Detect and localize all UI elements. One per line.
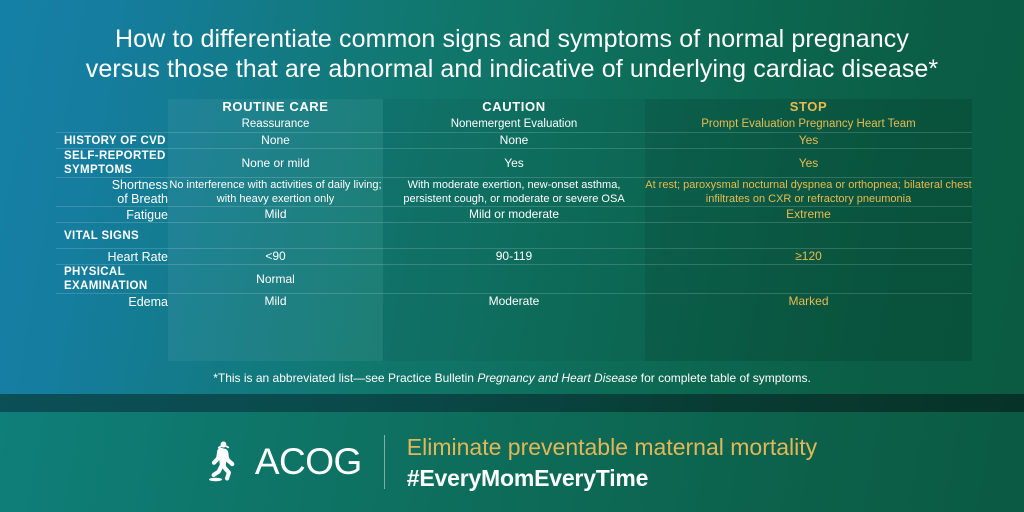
- table-row: Edema Mild Moderate Marked: [56, 294, 972, 310]
- cell-physical-examination-routine: Normal: [168, 265, 383, 294]
- cell-self-reported-symptoms-caution: Yes: [383, 149, 645, 178]
- row-label-line-2: of Breath: [117, 192, 168, 206]
- cell-history-of-cvd-routine: None: [168, 133, 383, 149]
- comparison-table-zone: ROUTINE CARE Reassurance CAUTION Nonemer…: [56, 99, 972, 361]
- row-label-history-of-cvd: HISTORY OF CVD: [56, 133, 168, 149]
- cell-vital-signs-routine: [168, 223, 383, 249]
- cell-shortness-of-breath-stop: At rest; paroxysmal nocturnal dyspnea or…: [645, 178, 972, 207]
- table-row: VITAL SIGNS: [56, 223, 972, 249]
- footnote-italic-title: Pregnancy and Heart Disease: [477, 371, 637, 385]
- row-label-heart-rate: Heart Rate: [56, 249, 168, 265]
- cell-edema-stop: Marked: [645, 294, 972, 310]
- footer-tagline: Eliminate preventable maternal mortality: [407, 433, 817, 461]
- cell-heart-rate-routine: <90: [168, 249, 383, 265]
- row-label-line-2: SYMPTOMS: [64, 164, 132, 176]
- column-header-caution-title: CAUTION: [383, 99, 645, 115]
- footer-divider-rule: [384, 435, 385, 489]
- cell-fatigue-routine: Mild: [168, 207, 383, 223]
- column-header-stop-subtitle: Prompt Evaluation Pregnancy Heart Team: [645, 117, 972, 132]
- cell-physical-examination-caution: [383, 265, 645, 294]
- footnote-prefix: *This is an abbreviated list—see Practic…: [213, 371, 477, 385]
- cell-heart-rate-caution: 90-119: [383, 249, 645, 265]
- acog-seal-icon: [207, 440, 243, 484]
- table-row: HISTORY OF CVD None None Yes: [56, 133, 972, 149]
- row-label-line-2: EXAMINATION: [64, 280, 148, 292]
- acog-wordmark: ACOG: [255, 442, 362, 482]
- row-label-edema: Edema: [56, 294, 168, 310]
- column-header-routine-care-subtitle: Reassurance: [168, 117, 383, 132]
- table-row: Heart Rate <90 90-119 ≥120: [56, 249, 972, 265]
- table-row: Shortness of Breath No interference with…: [56, 178, 972, 207]
- cell-self-reported-symptoms-stop: Yes: [645, 149, 972, 178]
- row-label-shortness-of-breath: Shortness of Breath: [56, 178, 168, 207]
- footer-tagline-block: Eliminate preventable maternal mortality…: [407, 433, 817, 492]
- footer-bar: ACOG Eliminate preventable maternal mort…: [0, 412, 1024, 512]
- page-title: How to differentiate common signs and sy…: [0, 24, 1024, 84]
- row-label-physical-examination: PHYSICAL EXAMINATION: [56, 265, 168, 294]
- cell-vital-signs-stop: [645, 223, 972, 249]
- cell-shortness-of-breath-routine: No interference with activities of daily…: [168, 178, 383, 207]
- column-header-routine-care-title: ROUTINE CARE: [168, 99, 383, 115]
- cell-edema-caution: Moderate: [383, 294, 645, 310]
- infographic-canvas: How to differentiate common signs and sy…: [0, 0, 1024, 512]
- table-header-row: ROUTINE CARE Reassurance CAUTION Nonemer…: [56, 99, 972, 133]
- cell-shortness-of-breath-caution: With moderate exertion, new-onset asthma…: [383, 178, 645, 207]
- acog-brand-lockup[interactable]: ACOG: [207, 440, 362, 484]
- cell-edema-routine: Mild: [168, 294, 383, 310]
- cell-fatigue-stop: Extreme: [645, 207, 972, 223]
- table-row: PHYSICAL EXAMINATION Normal: [56, 265, 972, 294]
- row-label-line-1: PHYSICAL: [64, 266, 125, 278]
- column-header-caution: CAUTION Nonemergent Evaluation: [383, 99, 645, 133]
- cell-heart-rate-stop: ≥120: [645, 249, 972, 265]
- comparison-table: ROUTINE CARE Reassurance CAUTION Nonemer…: [56, 99, 972, 309]
- header-spacer-cell: [56, 99, 168, 133]
- cell-vital-signs-caution: [383, 223, 645, 249]
- row-label-line-1: Shortness: [112, 178, 168, 192]
- cell-history-of-cvd-stop: Yes: [645, 133, 972, 149]
- row-label-line-1: SELF-REPORTED: [64, 150, 166, 162]
- column-header-routine-care: ROUTINE CARE Reassurance: [168, 99, 383, 133]
- row-label-fatigue: Fatigue: [56, 207, 168, 223]
- column-header-stop: STOP Prompt Evaluation Pregnancy Heart T…: [645, 99, 972, 133]
- footer-hashtag[interactable]: #EveryMomEveryTime: [407, 464, 817, 492]
- table-row: SELF-REPORTED SYMPTOMS None or mild Yes …: [56, 149, 972, 178]
- cell-history-of-cvd-caution: None: [383, 133, 645, 149]
- column-header-stop-title: STOP: [645, 99, 972, 115]
- footnote-suffix: for complete table of symptoms.: [637, 371, 810, 385]
- column-header-caution-subtitle: Nonemergent Evaluation: [383, 117, 645, 132]
- title-line-2: versus those that are abnormal and indic…: [0, 54, 1024, 84]
- row-label-self-reported-symptoms: SELF-REPORTED SYMPTOMS: [56, 149, 168, 178]
- title-line-1: How to differentiate common signs and sy…: [0, 24, 1024, 54]
- cell-physical-examination-stop: [645, 265, 972, 294]
- cell-fatigue-caution: Mild or moderate: [383, 207, 645, 223]
- row-label-vital-signs: VITAL SIGNS: [56, 223, 168, 249]
- footnote: *This is an abbreviated list—see Practic…: [0, 370, 1024, 386]
- table-row: Fatigue Mild Mild or moderate Extreme: [56, 207, 972, 223]
- divider-band: [0, 394, 1024, 412]
- cell-self-reported-symptoms-routine: None or mild: [168, 149, 383, 178]
